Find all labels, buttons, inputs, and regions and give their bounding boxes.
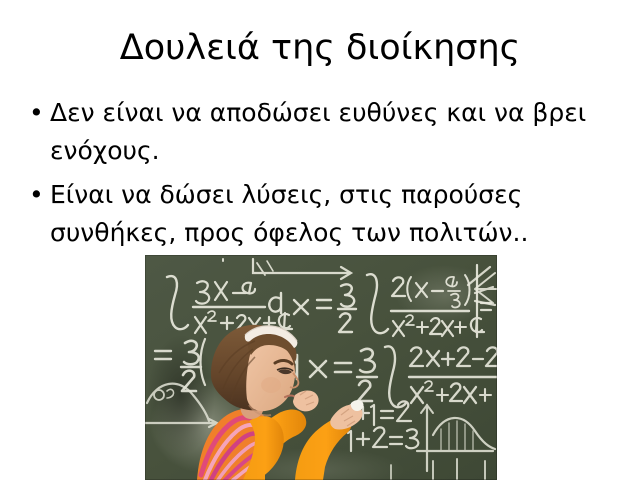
list-item: • Δεν είναι να αποδώσει ευθύνες και να β… [22, 94, 618, 170]
bullet-list: • Δεν είναι να αποδώσει ευθύνες και να β… [22, 94, 618, 258]
page-title: Δουλειά της διοίκησης [0, 26, 640, 70]
bullet-text: Δεν είναι να αποδώσει ευθύνες και να βρε… [50, 94, 598, 170]
girl-at-chalkboard-photo [145, 255, 497, 480]
presentation-slide: Δουλειά της διοίκησης • Δεν είναι να απο… [0, 0, 640, 480]
list-item: • Είναι να δώσει λύσεις, στις παρούσες σ… [22, 176, 618, 252]
bullet-point-icon: • [29, 176, 43, 214]
bullet-text: Είναι να δώσει λύσεις, στις παρούσες συν… [50, 176, 598, 252]
bullet-point-icon: • [29, 94, 43, 132]
